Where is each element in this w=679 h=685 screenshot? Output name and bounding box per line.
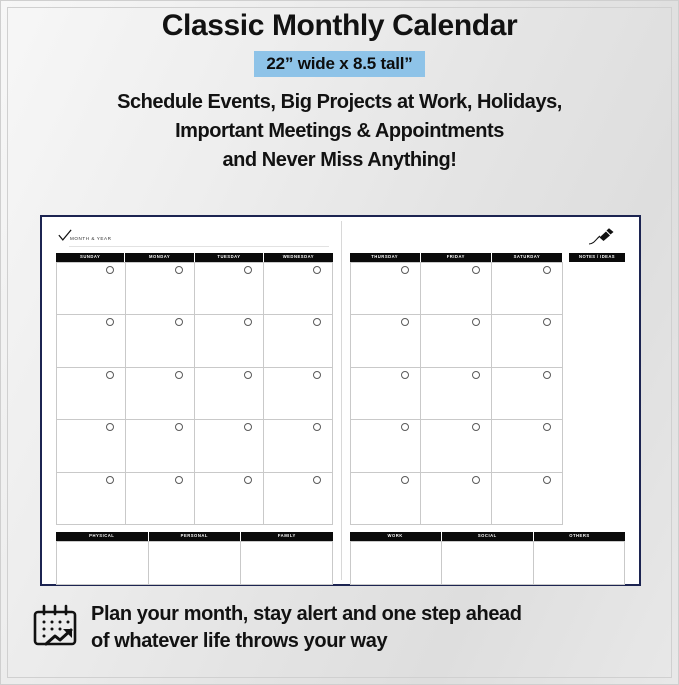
day-cell <box>421 315 492 367</box>
day-cell <box>351 420 422 472</box>
footer-block: Plan your month, stay alert and one step… <box>31 601 658 655</box>
day-number-circle <box>313 423 321 431</box>
day-header-friday: FRIDAY <box>421 253 491 262</box>
day-number-circle <box>401 266 409 274</box>
day-cell <box>421 263 492 315</box>
category-header-social: SOCIAL <box>442 532 533 541</box>
footer-line-2: of whatever life throws your way <box>91 628 522 655</box>
day-number-circle <box>543 476 551 484</box>
day-header-monday: MONDAY <box>125 253 193 262</box>
day-header-wednesday: WEDNESDAY <box>264 253 332 262</box>
right-category-body-row <box>350 541 625 585</box>
subtitle-line-1: Schedule Events, Big Projects at Work, H… <box>1 88 678 117</box>
day-cell <box>421 420 492 472</box>
size-badge-wrap: 22” wide x 8.5 tall” <box>1 51 678 77</box>
day-number-circle <box>244 423 252 431</box>
day-number-circle <box>543 266 551 274</box>
day-number-circle <box>401 423 409 431</box>
day-cell <box>57 473 126 525</box>
marker-pen-icon <box>587 227 617 247</box>
category-cell <box>57 542 149 585</box>
category-header-others: OTHERS <box>534 532 625 541</box>
day-cell <box>57 263 126 315</box>
day-cell <box>351 315 422 367</box>
footer-line-1: Plan your month, stay alert and one step… <box>91 601 522 628</box>
day-number-circle <box>106 266 114 274</box>
month-year-label: MONTH & YEAR <box>70 236 111 241</box>
day-number-circle <box>472 371 480 379</box>
day-number-circle <box>244 266 252 274</box>
category-header-work: WORK <box>350 532 441 541</box>
day-cell <box>126 263 195 315</box>
day-cell <box>126 368 195 420</box>
day-cell <box>264 263 333 315</box>
right-day-grid <box>350 262 563 525</box>
day-number-circle <box>106 423 114 431</box>
day-cell <box>492 420 563 472</box>
day-cell <box>195 473 264 525</box>
category-cell <box>442 542 533 585</box>
calendar-left-page: MONTH & YEAR SUNDAY MONDAY TUESDAY WEDNE… <box>46 221 341 580</box>
day-cell <box>351 473 422 525</box>
month-year-row: MONTH & YEAR <box>56 227 333 253</box>
month-year-rule <box>69 246 329 247</box>
calendar-spread: MONTH & YEAR SUNDAY MONDAY TUESDAY WEDNE… <box>46 221 635 580</box>
day-number-circle <box>244 371 252 379</box>
day-header-saturday: SATURDAY <box>492 253 562 262</box>
left-category-body-row <box>56 541 333 585</box>
calendar-trending-up-icon <box>31 603 79 653</box>
category-header-physical: PHYSICAL <box>56 532 148 541</box>
day-header-tuesday: TUESDAY <box>195 253 263 262</box>
day-number-circle <box>313 371 321 379</box>
day-cell <box>57 315 126 367</box>
left-day-grid <box>56 262 333 525</box>
left-day-header-row: SUNDAY MONDAY TUESDAY WEDNESDAY <box>56 253 333 262</box>
day-cell <box>351 368 422 420</box>
day-cell <box>57 368 126 420</box>
right-grid-wrap <box>350 262 625 525</box>
right-day-header-row: THURSDAY FRIDAY SATURDAY NOTES / IDEAS <box>350 253 625 262</box>
category-header-personal: PERSONAL <box>149 532 241 541</box>
day-number-circle <box>543 371 551 379</box>
category-cell <box>149 542 241 585</box>
day-number-circle <box>106 371 114 379</box>
day-number-circle <box>472 476 480 484</box>
day-cell <box>195 263 264 315</box>
day-cell <box>126 315 195 367</box>
day-number-circle <box>175 318 183 326</box>
category-cell <box>534 542 625 585</box>
right-category-header-row: WORK SOCIAL OTHERS <box>350 532 625 541</box>
day-number-circle <box>472 266 480 274</box>
day-number-circle <box>244 318 252 326</box>
day-cell <box>351 263 422 315</box>
day-cell <box>57 420 126 472</box>
day-number-circle <box>175 371 183 379</box>
subtitle-line-3: and Never Miss Anything! <box>1 146 678 175</box>
notes-ideas-header: NOTES / IDEAS <box>569 253 625 262</box>
day-header-sunday: SUNDAY <box>56 253 124 262</box>
header-block: Classic Monthly Calendar 22” wide x 8.5 … <box>1 9 678 175</box>
day-cell <box>492 263 563 315</box>
day-number-circle <box>543 423 551 431</box>
notes-ideas-pane <box>569 262 625 525</box>
day-cell <box>421 473 492 525</box>
product-poster: Classic Monthly Calendar 22” wide x 8.5 … <box>0 0 679 685</box>
day-number-circle <box>106 476 114 484</box>
day-header-thursday: THURSDAY <box>350 253 420 262</box>
page-title: Classic Monthly Calendar <box>1 9 678 44</box>
day-number-circle <box>313 318 321 326</box>
day-cell <box>264 420 333 472</box>
day-cell <box>195 420 264 472</box>
day-number-circle <box>244 476 252 484</box>
day-number-circle <box>401 318 409 326</box>
day-number-circle <box>401 371 409 379</box>
day-number-circle <box>472 318 480 326</box>
left-grid-wrap <box>56 262 333 525</box>
day-cell <box>195 315 264 367</box>
day-cell <box>264 315 333 367</box>
day-number-circle <box>313 476 321 484</box>
marker-row <box>350 227 625 253</box>
day-cell <box>492 368 563 420</box>
day-number-circle <box>106 318 114 326</box>
day-cell <box>492 473 563 525</box>
category-cell <box>241 542 333 585</box>
day-cell <box>264 368 333 420</box>
day-cell <box>195 368 264 420</box>
day-number-circle <box>175 266 183 274</box>
category-header-family: FAMILY <box>241 532 333 541</box>
size-badge: 22” wide x 8.5 tall” <box>254 51 424 77</box>
day-cell <box>126 420 195 472</box>
day-cell <box>126 473 195 525</box>
left-category-header-row: PHYSICAL PERSONAL FAMILY <box>56 532 333 541</box>
footer-text: Plan your month, stay alert and one step… <box>91 601 522 655</box>
day-number-circle <box>313 266 321 274</box>
category-cell <box>351 542 442 585</box>
calendar-right-page: THURSDAY FRIDAY SATURDAY NOTES / IDEAS <box>342 221 635 580</box>
day-number-circle <box>175 423 183 431</box>
day-cell <box>492 315 563 367</box>
day-number-circle <box>472 423 480 431</box>
subtitle-line-2: Important Meetings & Appointments <box>1 117 678 146</box>
day-cell <box>264 473 333 525</box>
day-number-circle <box>401 476 409 484</box>
day-number-circle <box>175 476 183 484</box>
day-number-circle <box>543 318 551 326</box>
subtitle-block: Schedule Events, Big Projects at Work, H… <box>1 88 678 175</box>
day-cell <box>421 368 492 420</box>
calendar-preview-frame: MONTH & YEAR SUNDAY MONDAY TUESDAY WEDNE… <box>40 215 641 586</box>
